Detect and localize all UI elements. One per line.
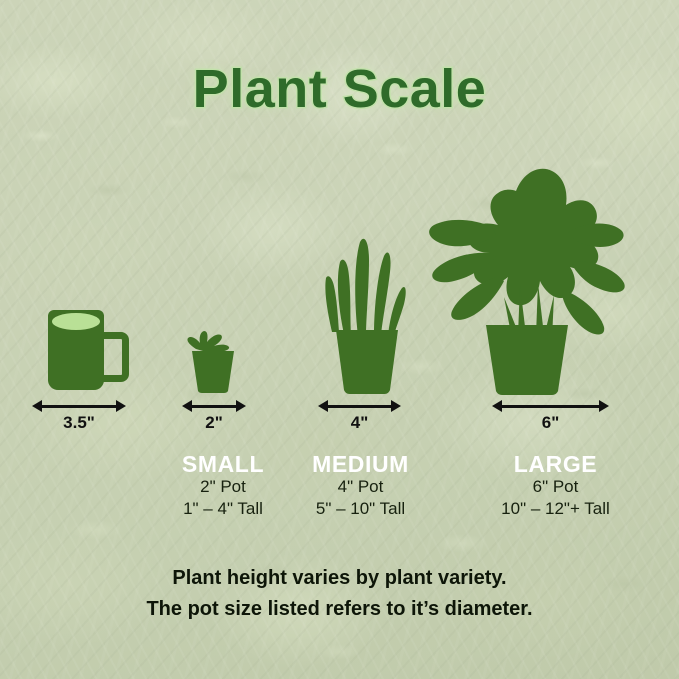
arrow-head-right-icon (391, 400, 401, 412)
measure-label-large: 6" (492, 413, 609, 433)
arrow-bar (325, 405, 394, 408)
arrow-bar (39, 405, 119, 408)
arrow-head-right-icon (236, 400, 246, 412)
pot-size-medium: 4" Pot (267, 476, 454, 498)
measure-label-medium: 4" (318, 413, 401, 433)
plant-scale-infographic: Plant Scale (0, 0, 679, 679)
size-caption-large: LARGE 6" Pot 10" – 12"+ Tall (462, 452, 649, 520)
arrow-bar (499, 405, 602, 408)
measure-label-mug: 3.5" (32, 413, 126, 433)
arrow-bar (189, 405, 239, 408)
size-label-medium: MEDIUM (267, 452, 454, 476)
measure-arrow-large: 6" (492, 399, 609, 413)
pot-size-large: 6" Pot (462, 476, 649, 498)
footer-note: Plant height varies by plant variety. Th… (0, 563, 679, 625)
size-caption-medium: MEDIUM 4" Pot 5" – 10" Tall (267, 452, 454, 520)
measure-arrow-small: 2" (182, 399, 246, 413)
arrow-head-right-icon (116, 400, 126, 412)
footer-line-1: Plant height varies by plant variety. (0, 563, 679, 594)
measure-arrow-medium: 4" (318, 399, 401, 413)
measure-arrow-mug: 3.5" (32, 399, 126, 413)
size-label-large: LARGE (462, 452, 649, 476)
measure-label-small: 2" (182, 413, 246, 433)
plant-height-large: 10" – 12"+ Tall (462, 498, 649, 520)
footer-line-2: The pot size listed refers to it’s diame… (0, 594, 679, 625)
page-title: Plant Scale (0, 58, 679, 120)
plant-height-medium: 5" – 10" Tall (267, 498, 454, 520)
arrow-head-right-icon (599, 400, 609, 412)
